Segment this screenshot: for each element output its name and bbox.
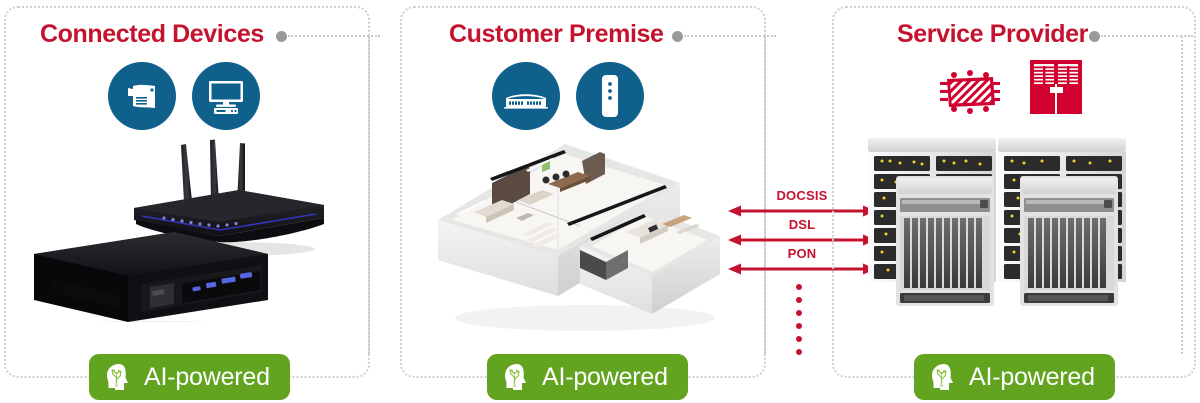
television-icon[interactable]: [192, 62, 260, 130]
server-cabinet-icon[interactable]: [1028, 58, 1084, 116]
connector-horizontal-line: [288, 35, 380, 37]
connector-vertical-line: [368, 36, 370, 354]
icon-row-connected-devices: [108, 62, 260, 130]
artwork-cutaway-house-floorplan: [430, 128, 730, 333]
panel-title-customer-premise: Customer Premise: [449, 20, 664, 49]
ai-powered-label: AI-powered: [542, 363, 668, 392]
panel-title-connected-devices: Connected Devices: [40, 20, 264, 49]
artwork-router-and-set-top-box: [24, 132, 354, 322]
connector-dot-icon: [276, 31, 287, 42]
ai-brain-head-icon: [103, 361, 135, 393]
ai-powered-label: AI-powered: [144, 363, 270, 392]
ai-brain-head-icon: [928, 361, 960, 393]
ai-brain-head-icon: [501, 361, 533, 393]
ai-powered-label: AI-powered: [969, 363, 1095, 392]
front-chassis-right: [1020, 176, 1118, 306]
ai-powered-badge-connected-devices[interactable]: AI-powered: [89, 354, 290, 400]
connector-horizontal-line: [1101, 35, 1193, 37]
connector-vertical-line: [1181, 36, 1183, 354]
icon-row-customer-premise: [492, 62, 644, 130]
connector-horizontal-line: [684, 35, 776, 37]
more-technologies-ellipsis-icon: [796, 284, 802, 355]
ai-powered-badge-customer-premise[interactable]: AI-powered: [487, 354, 688, 400]
connector-dot-icon: [1089, 31, 1100, 42]
diagram-canvas: Connected Devices: [0, 0, 1200, 403]
icon-row-service-provider: [938, 58, 1084, 116]
printer-icon[interactable]: [108, 62, 176, 130]
artwork-datacenter-server-racks: [862, 130, 1150, 310]
connector-dot-icon: [672, 31, 683, 42]
residential-gateway-icon[interactable]: [576, 62, 644, 130]
panel-title-service-provider: Service Provider: [897, 20, 1088, 49]
processor-chip-icon[interactable]: [938, 68, 1002, 116]
rack-switch-icon[interactable]: [492, 62, 560, 130]
ai-powered-badge-service-provider[interactable]: AI-powered: [914, 354, 1115, 400]
front-chassis-left: [896, 176, 994, 306]
